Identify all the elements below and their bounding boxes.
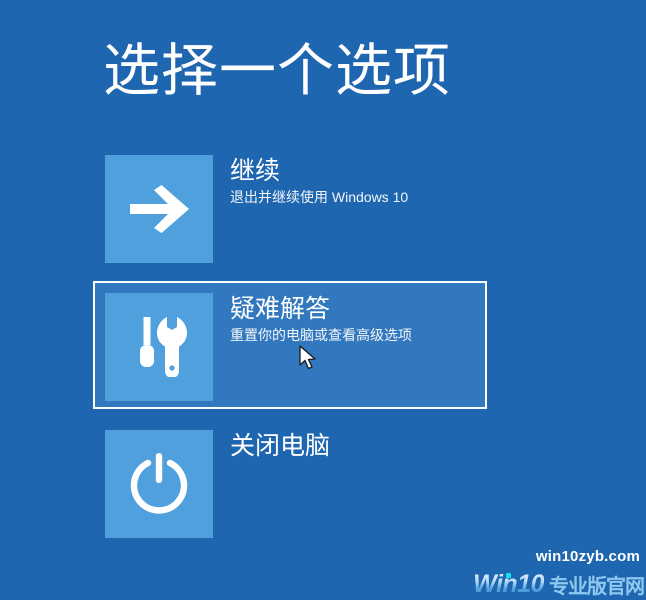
option-troubleshoot-tile (105, 293, 213, 401)
page-title: 选择一个选项 (103, 36, 451, 106)
option-shutdown-text: 关闭电脑 (230, 430, 330, 463)
option-continue-text: 继续 退出并继续使用 Windows 10 (230, 155, 408, 207)
watermark-logo-dot (506, 573, 511, 578)
arrow-right-icon (105, 155, 213, 263)
option-shutdown-tile (105, 430, 213, 538)
watermark-logo: Win10 专业版官网 (473, 571, 644, 598)
watermark-logo-text: 专业版官网 (549, 570, 644, 599)
option-continue-subtitle: 退出并继续使用 Windows 10 (230, 188, 408, 207)
option-continue-tile (105, 155, 213, 263)
screwdriver-wrench-icon (105, 293, 213, 401)
option-troubleshoot-text: 疑难解答 重置你的电脑或查看高级选项 (230, 293, 412, 345)
recovery-screen: 选择一个选项 继续 退出并继续使用 Windows 10 (0, 0, 646, 600)
option-continue[interactable]: 继续 退出并继续使用 Windows 10 (93, 143, 487, 271)
watermark-url: win10zyb.com (536, 548, 640, 565)
option-continue-title: 继续 (230, 156, 408, 186)
option-shutdown-title: 关闭电脑 (230, 431, 330, 461)
power-icon (105, 430, 213, 538)
option-troubleshoot-subtitle: 重置你的电脑或查看高级选项 (230, 326, 412, 345)
option-troubleshoot-title: 疑难解答 (230, 294, 412, 324)
option-troubleshoot[interactable]: 疑难解答 重置你的电脑或查看高级选项 (93, 281, 487, 409)
option-shutdown[interactable]: 关闭电脑 (93, 418, 487, 546)
